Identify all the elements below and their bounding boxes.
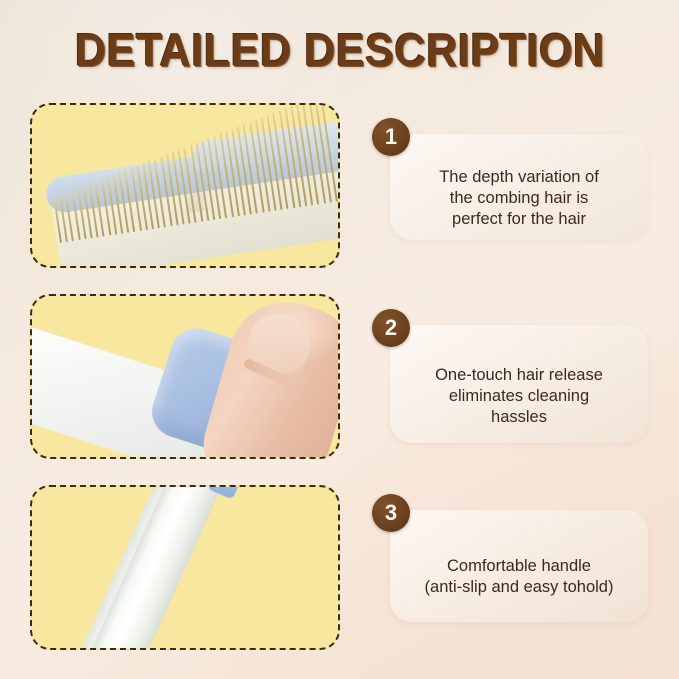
feature-badge-2: 2 xyxy=(372,309,410,347)
feature-text-line: perfect for the hair xyxy=(398,209,640,230)
feature-text-line: The depth variation of xyxy=(398,167,640,188)
handle-grip-photo xyxy=(32,487,338,648)
feature-text-2: One-touch hair release eliminates cleani… xyxy=(390,365,648,428)
comb-pin xyxy=(184,147,197,223)
feature-text-line: eliminates cleaning xyxy=(398,386,640,407)
feature-badge-1: 1 xyxy=(372,118,410,156)
thumb-button-photo xyxy=(32,296,338,457)
feature-text-1: The depth variation of the combing hair … xyxy=(390,167,648,230)
feature-text-3: Comfortable handle (anti-slip and easy t… xyxy=(390,556,648,598)
photo-panel-comb-pins xyxy=(30,103,340,268)
feature-text-line: the combing hair is xyxy=(398,188,640,209)
feature-text-line: hassles xyxy=(398,407,640,428)
detailed-description-infographic: DETAILED DESCRIPTION 1 xyxy=(0,0,679,679)
feature-text-line: One-touch hair release xyxy=(398,365,640,386)
photo-panel-handle-grip xyxy=(30,485,340,650)
feature-text-line: (anti-slip and easy tohold) xyxy=(398,577,640,598)
page-title-container: DETAILED DESCRIPTION xyxy=(0,22,679,78)
feature-badge-3: 3 xyxy=(372,494,410,532)
handle-shaft-shape xyxy=(64,487,230,648)
page-title: DETAILED DESCRIPTION xyxy=(75,22,605,78)
photo-panel-thumb-button xyxy=(30,294,340,459)
feature-text-line: Comfortable handle xyxy=(398,556,640,577)
comb-pins-photo xyxy=(32,105,338,266)
